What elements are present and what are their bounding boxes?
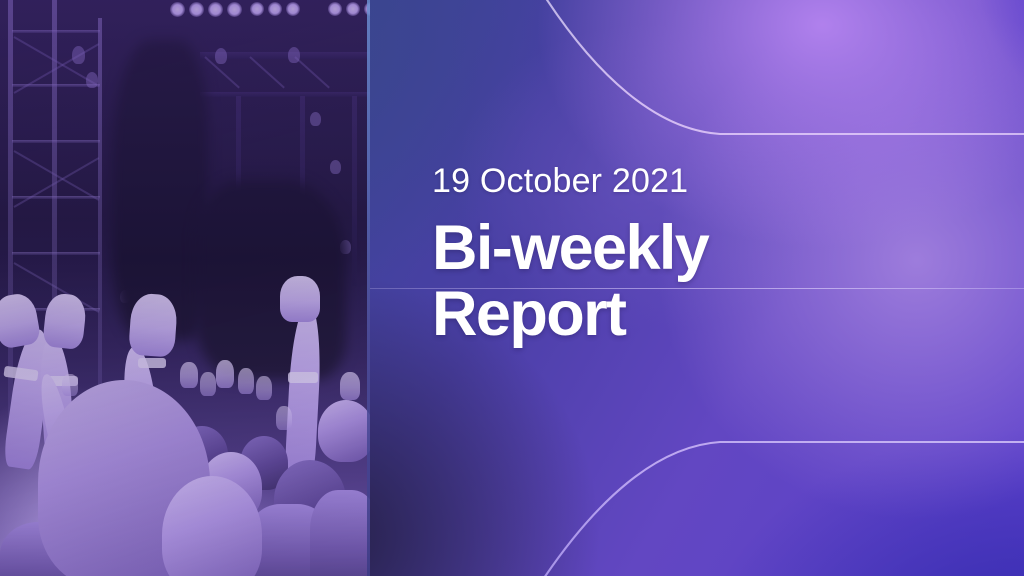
photo-tint-overlay (0, 0, 370, 576)
title-text-block: 19 October 2021 Bi-weekly Report (432, 160, 952, 348)
slide-date: 19 October 2021 (432, 160, 952, 203)
slide-title-line-1: Bi-weekly (432, 215, 952, 282)
title-slide: 19 October 2021 Bi-weekly Report (0, 0, 1024, 576)
slide-title-line-2: Report (432, 281, 952, 348)
slide-title: Bi-weekly Report (432, 215, 952, 349)
concert-photo (0, 0, 370, 576)
